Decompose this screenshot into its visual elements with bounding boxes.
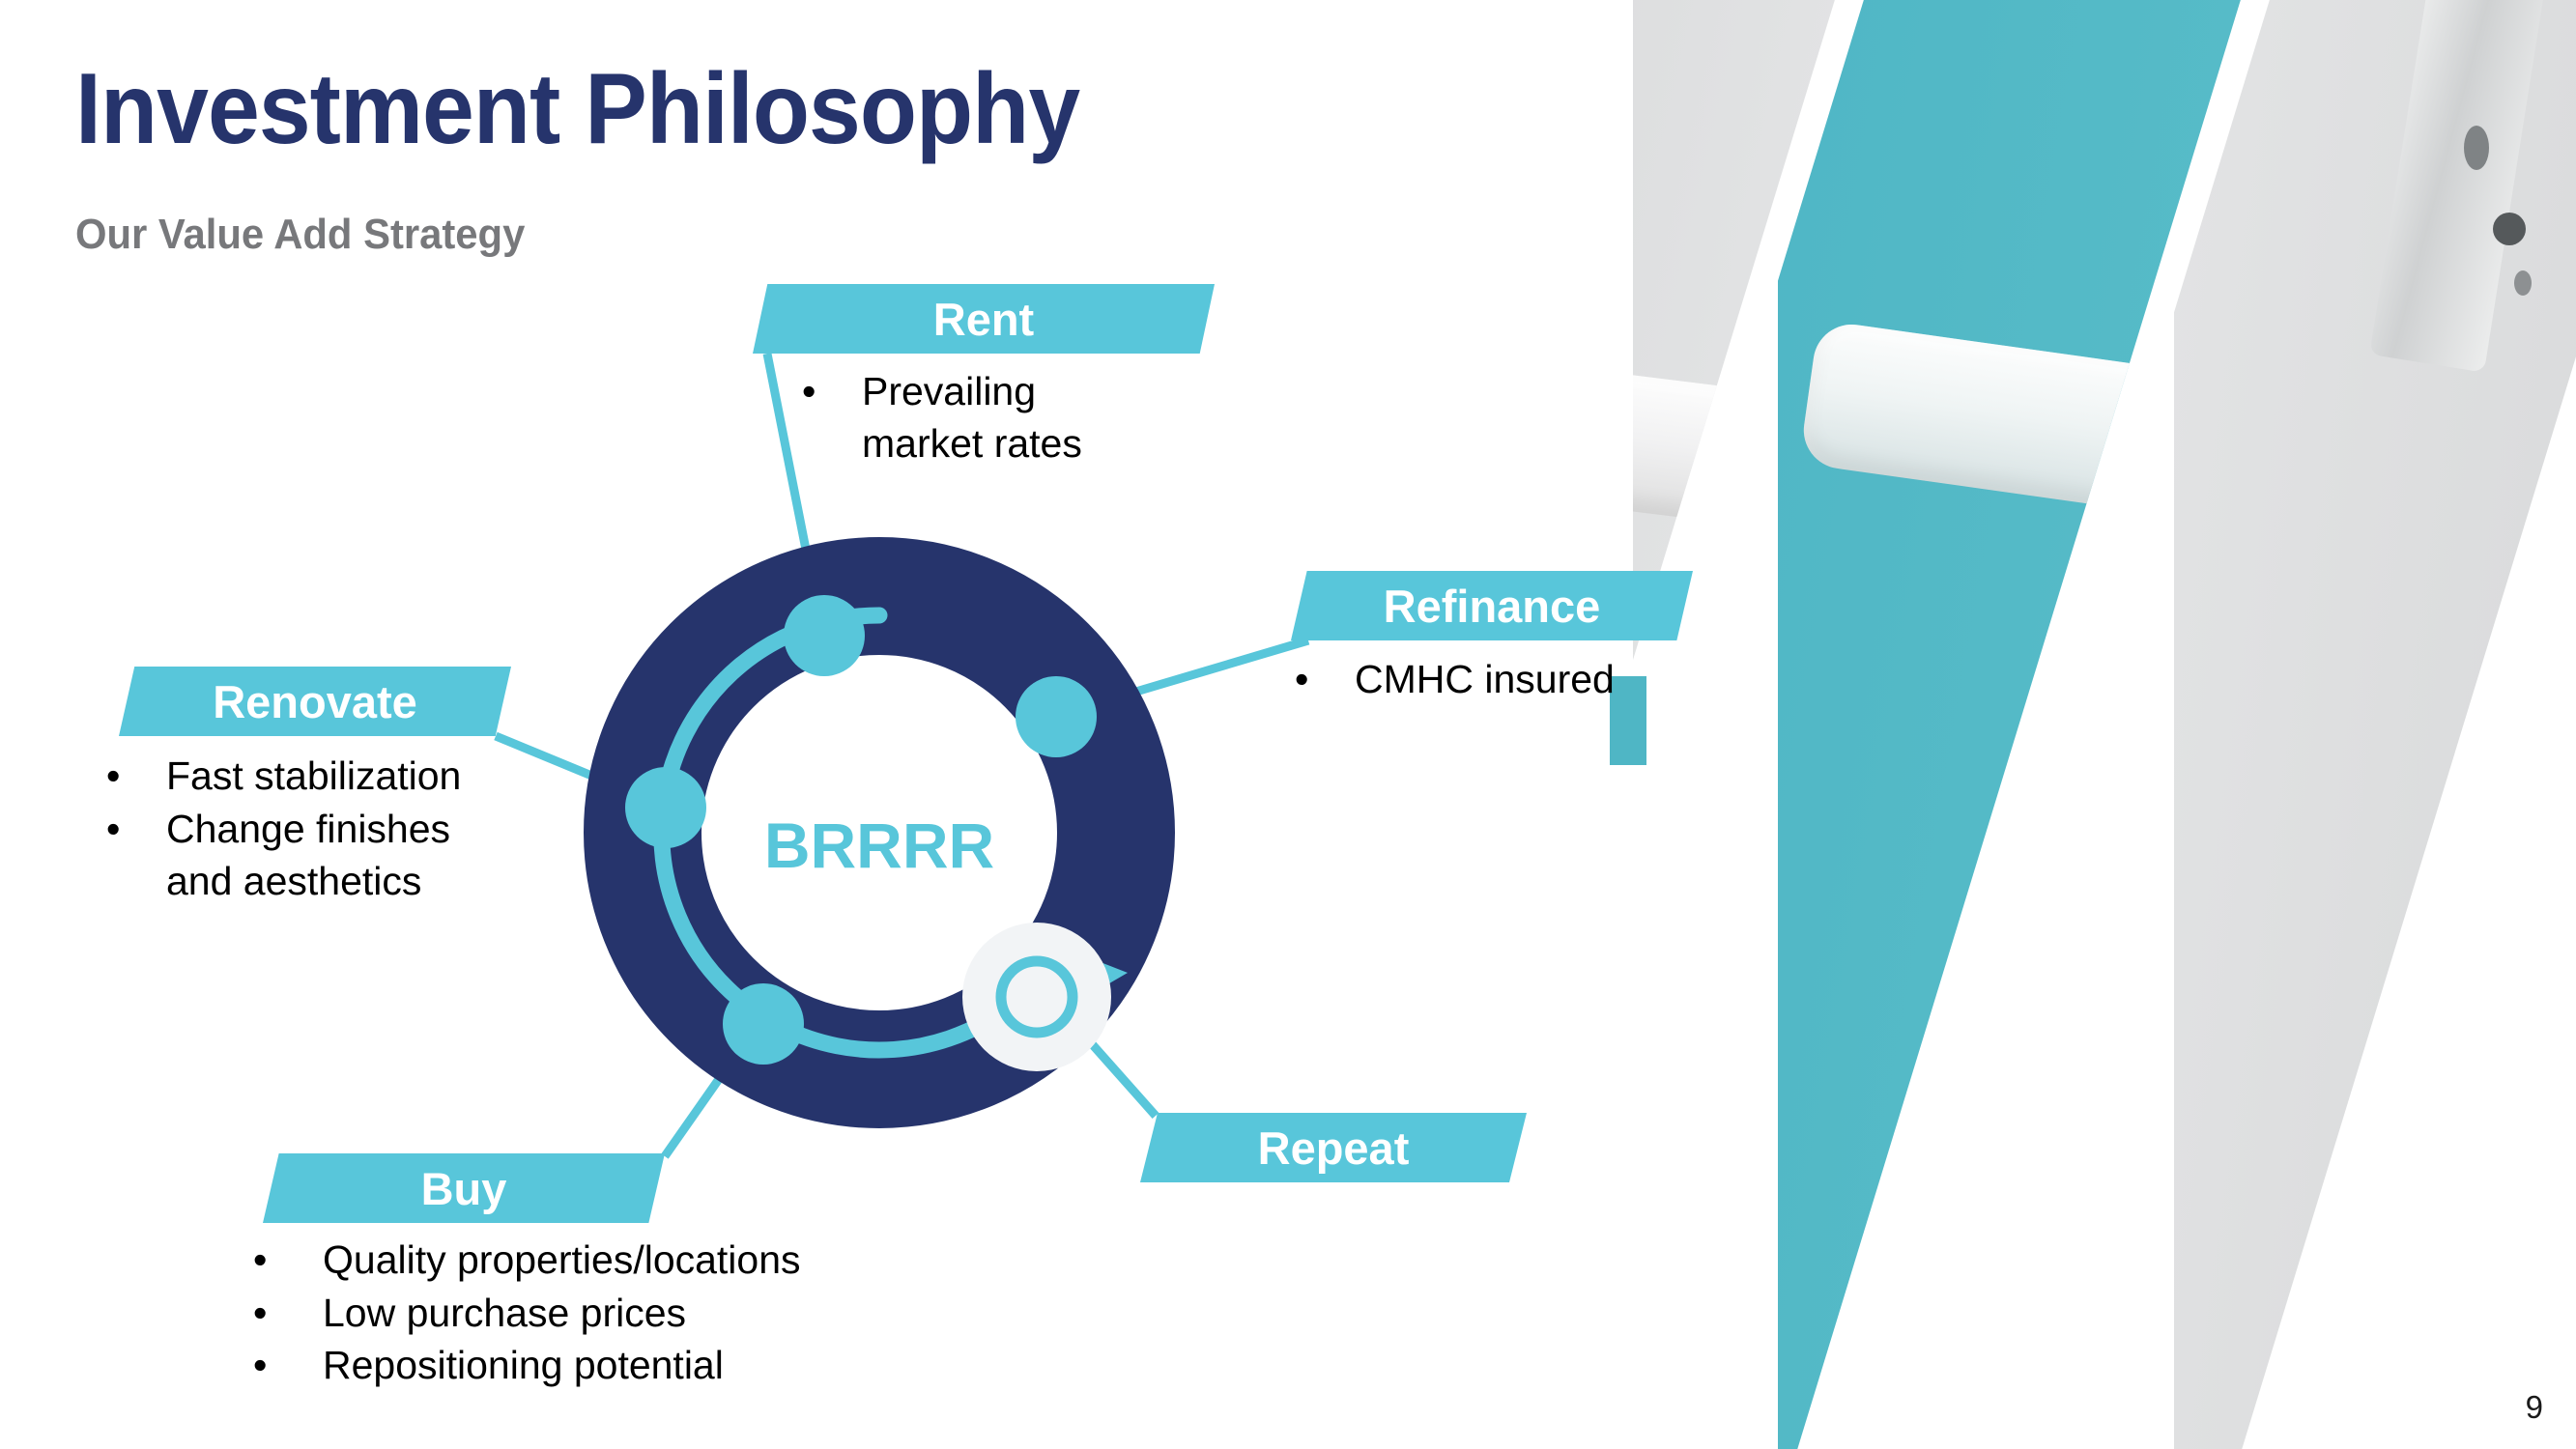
paint-speck bbox=[2464, 126, 2489, 170]
bullet-label: CMHC insured bbox=[1355, 653, 1615, 705]
banner-renovate[interactable]: Renovate bbox=[119, 667, 511, 736]
bullet-glyph: • bbox=[802, 365, 862, 469]
bullet-glyph: • bbox=[253, 1339, 323, 1392]
banner-rent[interactable]: Rent bbox=[753, 284, 1215, 354]
paint-speck bbox=[2514, 270, 2532, 296]
banner-buy[interactable]: Buy bbox=[263, 1153, 665, 1223]
bullet-label: Change finishes and aesthetics bbox=[166, 803, 485, 908]
bullet-label: Low purchase prices bbox=[323, 1287, 686, 1340]
bullet-label: Repositioning potential bbox=[323, 1339, 724, 1392]
node-repeat-disc[interactable] bbox=[962, 923, 1111, 1071]
bullet-glyph: • bbox=[106, 750, 166, 803]
photo-collage bbox=[1633, 0, 2576, 1449]
list-item: • Change finishes and aesthetics bbox=[106, 803, 485, 908]
node-buy[interactable] bbox=[723, 983, 804, 1065]
list-item: • Quality properties/locations bbox=[253, 1234, 801, 1287]
bullet-label: Fast stabilization bbox=[166, 750, 485, 803]
node-rent[interactable] bbox=[784, 595, 865, 676]
bullet-glyph: • bbox=[106, 803, 166, 908]
bullets-rent: • Prevailing market rates bbox=[802, 365, 1132, 469]
bullet-label: Prevailing market rates bbox=[862, 365, 1132, 469]
node-renovate[interactable] bbox=[625, 767, 706, 848]
paint-speck bbox=[2493, 213, 2526, 245]
bullets-buy: • Quality properties/locations • Low pur… bbox=[253, 1234, 801, 1392]
page-number: 9 bbox=[2526, 1389, 2543, 1426]
list-item: • CMHC insured bbox=[1295, 653, 1615, 705]
bullets-refinance: • CMHC insured bbox=[1295, 653, 1615, 705]
cycle-center-label: BRRRR bbox=[764, 810, 994, 881]
bullet-glyph: • bbox=[253, 1287, 323, 1340]
list-item: • Repositioning potential bbox=[253, 1339, 801, 1392]
bullets-renovate: • Fast stabilization • Change finishes a… bbox=[106, 750, 485, 908]
list-item: • Low purchase prices bbox=[253, 1287, 801, 1340]
banner-repeat[interactable]: Repeat bbox=[1140, 1113, 1527, 1182]
list-item: • Prevailing market rates bbox=[802, 365, 1132, 469]
banner-refinance[interactable]: Refinance bbox=[1291, 571, 1693, 640]
paint-roller-handle-icon bbox=[2369, 0, 2576, 373]
list-item: • Fast stabilization bbox=[106, 750, 485, 803]
bullet-glyph: • bbox=[253, 1234, 323, 1287]
bullet-glyph: • bbox=[1295, 653, 1355, 705]
node-refinance[interactable] bbox=[1016, 676, 1097, 757]
bullet-label: Quality properties/locations bbox=[323, 1234, 801, 1287]
